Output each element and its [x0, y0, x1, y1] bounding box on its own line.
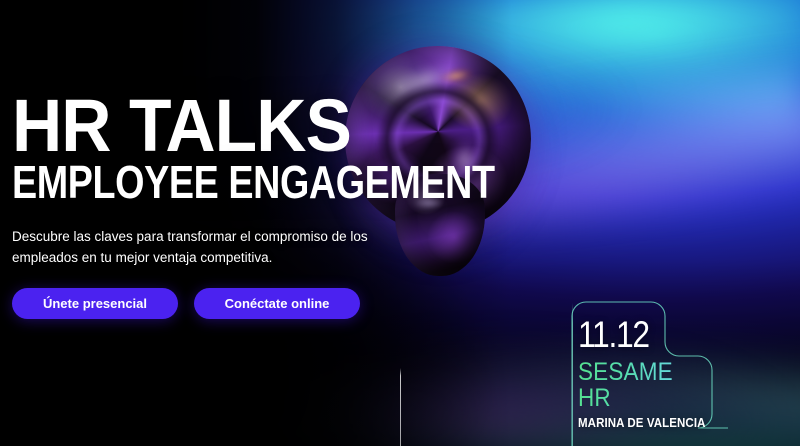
event-venue: MARINA DE VALENCIA: [578, 416, 714, 430]
event-details-card: 11.12 SESAME HR MARINA DE VALENCIA: [566, 296, 728, 446]
cta-button-group: Únete presencial Conéctate online: [12, 288, 532, 319]
join-in-person-button[interactable]: Únete presencial: [12, 288, 178, 319]
hero-banner: HR TALKS EMPLOYEE ENGAGEMENT Descubre la…: [0, 0, 800, 446]
event-date: 11.12: [578, 316, 705, 353]
event-details-text: 11.12 SESAME HR MARINA DE VALENCIA: [578, 316, 726, 430]
hero-description: Descubre las claves para transformar el …: [12, 226, 384, 269]
event-brand: SESAME HR: [578, 359, 711, 412]
page-title: HR TALKS: [12, 95, 501, 157]
page-subtitle-headline: EMPLOYEE ENGAGEMENT: [12, 163, 438, 202]
hero-content: HR TALKS EMPLOYEE ENGAGEMENT Descubre la…: [12, 95, 532, 319]
join-online-button[interactable]: Conéctate online: [194, 288, 360, 319]
vertical-rule-left: [400, 368, 401, 446]
